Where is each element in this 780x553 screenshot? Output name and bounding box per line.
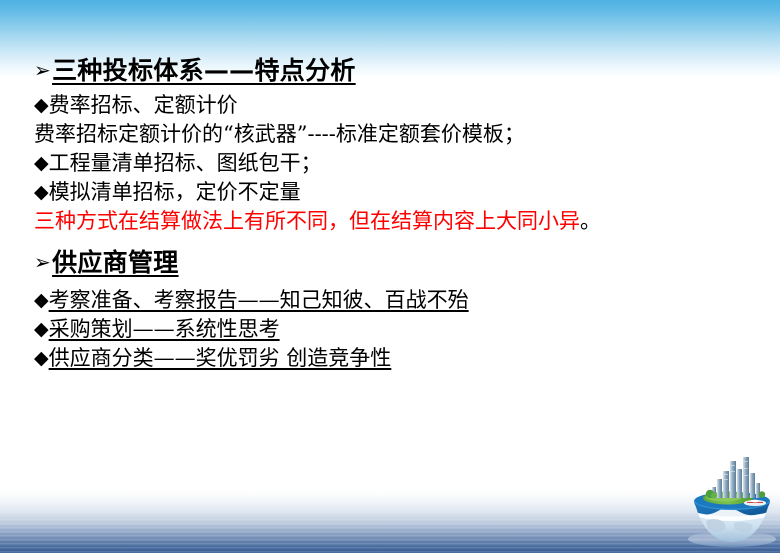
highlight-settlement-note: 三种方式在结算做法上有所不同，但在结算内容上大同小异。 <box>34 211 750 232</box>
arrow-bullet-icon: ➢ <box>34 60 51 80</box>
heading-1-text: 三种投标体系——特点分析 <box>52 56 356 85</box>
bottom-water-band <box>0 491 780 553</box>
heading-supplier-management: ➢供应商管理 <box>34 250 750 275</box>
bullet-item-procurement-planning: ◆采购策划——系统性思考 <box>34 319 750 340</box>
bullet-item-boq-bidding: ◆工程量清单招标、图纸包干； <box>34 153 750 174</box>
slide-canvas: ➢三种投标体系——特点分析 ◆费率招标、定额计价 费率招标定额计价的“核武器”-… <box>0 0 780 553</box>
item-3-text: 模拟清单招标，定价不定量 <box>49 180 301 204</box>
item-4-text: 考察准备、考察报告——知己知彼、百战不殆 <box>49 288 469 312</box>
bullet-item-rate-bidding: ◆费率招标、定额计价 <box>34 95 750 116</box>
slide-body: ➢三种投标体系——特点分析 ◆费率招标、定额计价 费率招标定额计价的“核武器”-… <box>34 58 750 377</box>
heading-bidding-systems: ➢三种投标体系——特点分析 <box>34 58 750 83</box>
diamond-bullet-icon: ◆ <box>34 349 49 368</box>
item-6-text: 供应商分类——奖优罚劣 创造竞争性 <box>49 346 392 370</box>
bullet-item-supplier-classification: ◆供应商分类——奖优罚劣 创造竞争性 <box>34 348 750 369</box>
heading-2-text: 供应商管理 <box>52 248 179 277</box>
item-5-text: 采购策划——系统性思考 <box>49 317 280 341</box>
bullet-item-survey-report: ◆考察准备、考察报告——知己知彼、百战不殆 <box>34 290 750 311</box>
diamond-bullet-icon: ◆ <box>34 154 49 173</box>
diamond-bullet-icon: ◆ <box>34 320 49 339</box>
item-2-text: 工程量清单招标、图纸包干； <box>49 151 322 175</box>
highlight-text: 三种方式在结算做法上有所不同，但在结算内容上大同小异 <box>34 209 580 233</box>
diamond-bullet-icon: ◆ <box>34 291 49 310</box>
note-nuclear-weapon-template: 费率招标定额计价的“核武器”----标准定额套价模板； <box>34 124 750 145</box>
highlight-period: 。 <box>580 209 601 233</box>
diamond-bullet-icon: ◆ <box>34 96 49 115</box>
diamond-bullet-icon: ◆ <box>34 183 49 202</box>
item-1-text: 费率招标、定额计价 <box>49 93 238 117</box>
bullet-item-simulated-boq: ◆模拟清单招标，定价不定量 <box>34 182 750 203</box>
globe-city-illustration <box>684 449 780 549</box>
arrow-bullet-icon: ➢ <box>34 252 51 272</box>
